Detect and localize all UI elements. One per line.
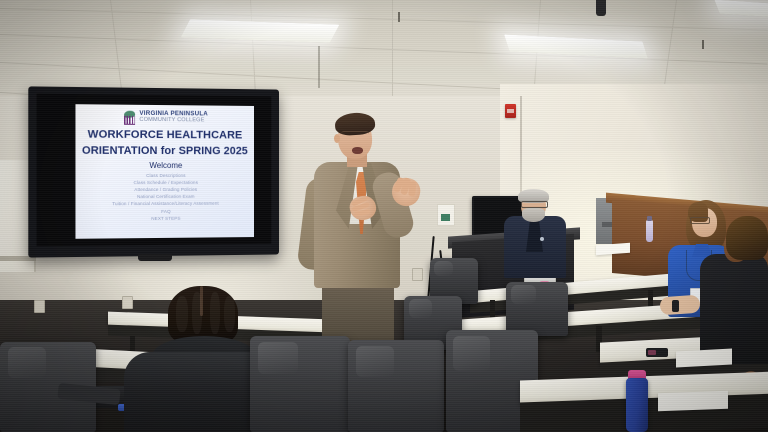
- college-logo: VIRGINIA PENINSULA COMMUNITY COLLEGE: [75, 110, 254, 124]
- student-hair-part: [200, 286, 203, 316]
- fire-alarm-pull-station-icon: [505, 104, 516, 118]
- paper-handout[interactable]: [676, 349, 732, 368]
- classroom-chair[interactable]: [506, 282, 568, 336]
- seated-man-eyeglasses: [521, 201, 548, 208]
- seated-man-lapel-pin: [540, 237, 544, 241]
- wall-mounted-display[interactable]: VIRGINIA PENINSULA COMMUNITY COLLEGE WOR…: [28, 86, 279, 257]
- classroom-photo-scene: VIRGINIA PENINSULA COMMUNITY COLLEGE WOR…: [0, 0, 768, 432]
- seated-man-beard: [522, 208, 545, 222]
- logo-line-2: COMMUNITY COLLEGE: [139, 118, 208, 124]
- display-wall-mount: [138, 254, 172, 261]
- hand-sanitizer-bottle[interactable]: [646, 220, 653, 242]
- slide-heading-line-1: WORKFORCE HEALTHCARE: [75, 128, 254, 141]
- presenter-eyeglasses: [341, 131, 369, 138]
- ceiling-hanger: [398, 12, 400, 22]
- cell-phone[interactable]: [646, 348, 668, 357]
- presentation-slide: VIRGINIA PENINSULA COMMUNITY COLLEGE WOR…: [75, 104, 254, 239]
- wall-notice-sign: [437, 204, 455, 226]
- classroom-chair[interactable]: [348, 340, 444, 432]
- classroom-chair[interactable]: [250, 336, 350, 432]
- wall-outlet: [122, 296, 133, 309]
- ceiling-mounted-sensor: [596, 0, 606, 16]
- blue-polo-woman-arm: [659, 295, 700, 316]
- wall-outlet: [412, 268, 423, 281]
- presenter-mouth: [352, 147, 363, 154]
- dark-attire-hair: [726, 216, 768, 260]
- water-bottle[interactable]: VP: [626, 378, 648, 432]
- dark-attire-torso: [700, 254, 768, 364]
- vpcc-logo-mark-icon: [123, 111, 136, 124]
- blue-polo-woman-eyeglasses: [690, 217, 710, 224]
- ceiling-hanger: [318, 46, 320, 88]
- slide-subheading: Welcome: [75, 161, 254, 170]
- ceiling-hanger: [702, 40, 704, 49]
- display-panel: VIRGINIA PENINSULA COMMUNITY COLLEGE WOR…: [37, 94, 272, 247]
- slide-heading-line-2: ORIENTATION for SPRING 2025: [75, 145, 254, 158]
- slide-agenda-list: Class Descriptions Class Schedule / Expe…: [75, 172, 254, 222]
- paper-handout[interactable]: [658, 391, 728, 411]
- slide-agenda-item: NEXT STEPS: [75, 214, 254, 222]
- wristwatch: [672, 300, 679, 312]
- presenter-ear: [334, 134, 340, 143]
- wall-outlet: [34, 300, 45, 313]
